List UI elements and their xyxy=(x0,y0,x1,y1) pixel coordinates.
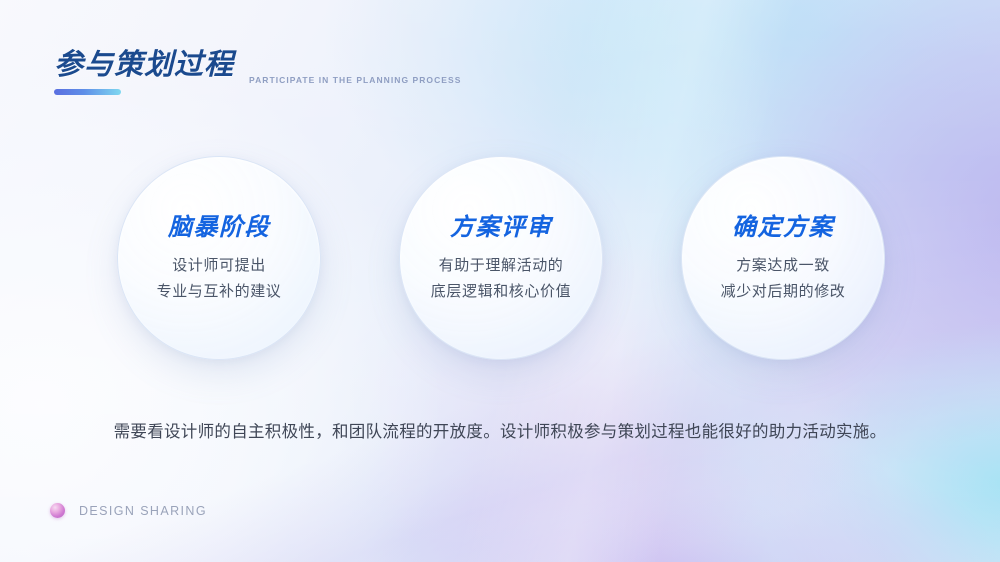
circle-card-1-title: 脑暴阶段 xyxy=(168,216,270,240)
footer-brand-label: DESIGN SHARING xyxy=(79,504,207,518)
circle-card-3-line-2: 减少对后期的修改 xyxy=(721,283,846,301)
title-block: 参与策划过程 xyxy=(54,50,234,95)
page-title: 参与策划过程 xyxy=(54,50,234,80)
sphere-icon xyxy=(50,503,65,518)
circle-card-1-line-1: 设计师可提出 xyxy=(172,257,266,275)
circle-row: 脑暴阶段 设计师可提出 专业与互补的建议 方案评审 有助于理解活动的 底层逻辑和… xyxy=(0,156,1000,366)
slide-footer: DESIGN SHARING xyxy=(50,503,207,518)
circle-card-3-body: 方案达成一致 减少对后期的修改 xyxy=(721,257,846,301)
circle-card-2: 方案评审 有助于理解活动的 底层逻辑和核心价值 xyxy=(399,156,603,360)
circle-card-2-title: 方案评审 xyxy=(450,216,552,240)
summary-caption: 需要看设计师的自主积极性，和团队流程的开放度。设计师积极参与策划过程也能很好的助… xyxy=(0,418,1000,442)
page-subtitle: PARTICIPATE IN THE PLANNING PROCESS xyxy=(249,75,461,95)
circle-card-3-line-1: 方案达成一致 xyxy=(736,257,830,275)
circle-card-1: 脑暴阶段 设计师可提出 专业与互补的建议 xyxy=(117,156,321,360)
circle-card-1-body: 设计师可提出 专业与互补的建议 xyxy=(157,257,282,301)
circle-card-2-line-1: 有助于理解活动的 xyxy=(439,257,564,275)
circle-card-2-body: 有助于理解活动的 底层逻辑和核心价值 xyxy=(431,257,571,301)
circle-card-3-title: 确定方案 xyxy=(732,216,834,240)
slide-header: 参与策划过程 PARTICIPATE IN THE PLANNING PROCE… xyxy=(54,50,461,95)
slide-canvas: 参与策划过程 PARTICIPATE IN THE PLANNING PROCE… xyxy=(0,0,1000,562)
circle-card-2-line-2: 底层逻辑和核心价值 xyxy=(431,283,571,301)
title-underline-accent xyxy=(54,89,121,95)
circle-card-1-line-2: 专业与互补的建议 xyxy=(157,283,282,301)
circle-card-3: 确定方案 方案达成一致 减少对后期的修改 xyxy=(681,156,885,360)
